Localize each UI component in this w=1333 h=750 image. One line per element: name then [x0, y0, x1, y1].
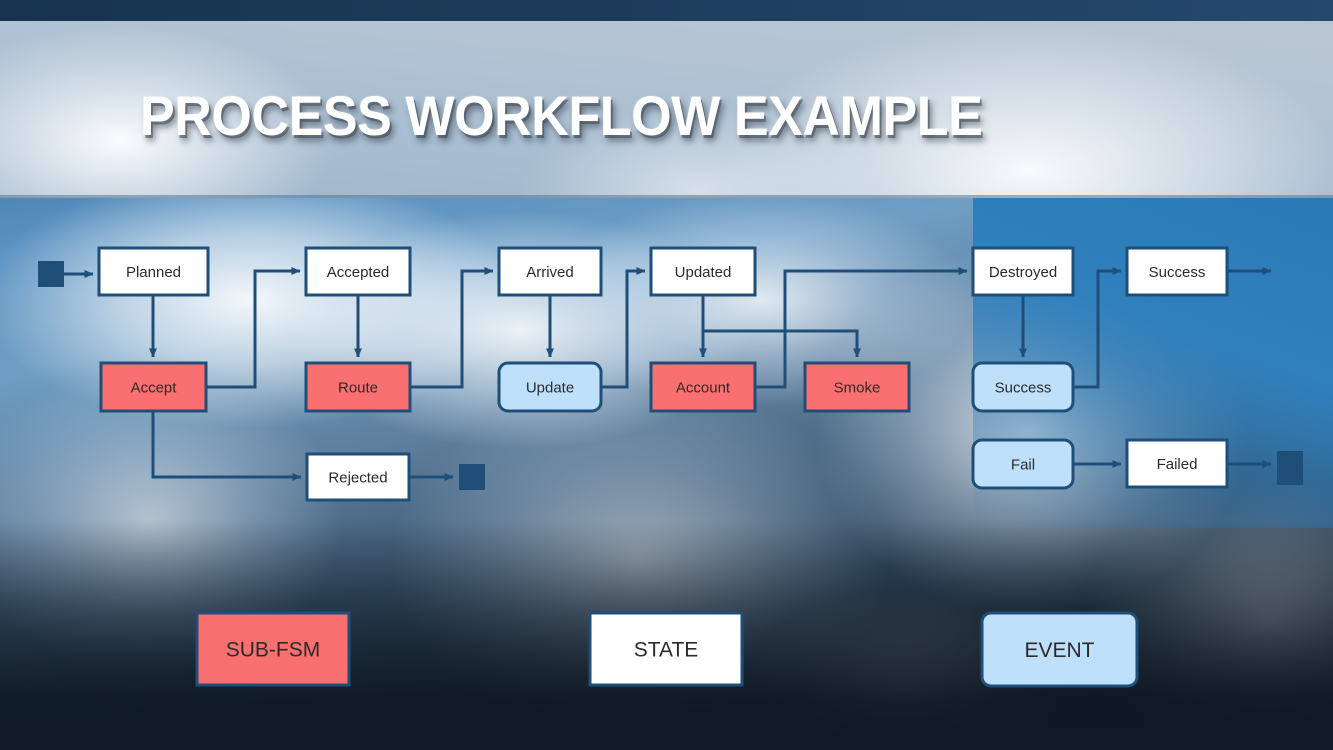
node-label: Smoke: [834, 380, 881, 397]
node-account[interactable]: Account: [651, 363, 755, 411]
node-update[interactable]: Update: [499, 363, 601, 411]
edge-success_e-to-success_s: [1073, 271, 1121, 387]
node-label: Route: [338, 380, 378, 397]
node-label: Success: [1149, 264, 1206, 281]
node-label: Updated: [675, 264, 732, 281]
node-start1[interactable]: [38, 261, 64, 287]
legend-layer: SUB-FSMSTATEEVENT: [197, 613, 1137, 686]
legend-item-state[interactable]: STATE: [590, 613, 742, 685]
node-success[interactable]: Success: [1127, 248, 1227, 295]
node-label: Failed: [1157, 456, 1198, 473]
node-label: Rejected: [328, 470, 387, 487]
node-rejected[interactable]: Rejected: [307, 454, 409, 500]
node-label: STATE: [634, 639, 699, 662]
node-accept[interactable]: Accept: [101, 363, 206, 411]
legend-item-event[interactable]: EVENT: [982, 613, 1137, 686]
top-accent-band: [0, 0, 1333, 21]
node-label: EVENT: [1024, 639, 1094, 662]
node-label: SUB-FSM: [226, 639, 321, 662]
edge-update-to-updated: [601, 271, 645, 387]
slide-canvas: PROCESS WORKFLOW EXAMPLE PlannedAcceptAc…: [0, 0, 1333, 750]
node-shape-terminal: [1277, 451, 1303, 477]
node-label: Arrived: [526, 264, 574, 281]
edge-updated-to-smoke: [703, 331, 857, 357]
page-title: PROCESS WORKFLOW EXAMPLE: [140, 83, 982, 148]
node-label: Fail: [1011, 457, 1035, 474]
node-updated[interactable]: Updated: [651, 248, 755, 295]
edge-route-to-arrived: [410, 271, 493, 387]
node-label: Accept: [131, 380, 178, 397]
node-label: Update: [526, 380, 574, 397]
node-shape-terminal: [459, 464, 485, 490]
node-label: Account: [676, 380, 731, 397]
node-arrived[interactable]: Arrived: [499, 248, 601, 295]
node-smoke[interactable]: Smoke: [805, 363, 909, 411]
node-label: Success: [995, 380, 1052, 397]
node-label: Destroyed: [989, 264, 1057, 281]
node-fail[interactable]: Fail: [973, 440, 1073, 488]
node-end1[interactable]: [459, 464, 485, 490]
node-destroyed[interactable]: Destroyed: [973, 248, 1073, 295]
node-label: Planned: [126, 264, 181, 281]
node-planned[interactable]: Planned: [99, 248, 208, 295]
edge-accept-to-rejected: [153, 411, 301, 477]
node-end3[interactable]: [1277, 451, 1303, 477]
node-route[interactable]: Route: [306, 363, 410, 411]
node-accepted[interactable]: Accepted: [306, 248, 410, 295]
node-failed[interactable]: Failed: [1127, 440, 1227, 487]
nodes-layer: PlannedAcceptAcceptedRouteRejectedArrive…: [38, 248, 1303, 500]
workflow-diagram: PlannedAcceptAcceptedRouteRejectedArrive…: [0, 198, 1333, 750]
workflow-diagram-svg: PlannedAcceptAcceptedRouteRejectedArrive…: [0, 198, 1333, 750]
edge-accept-to-accepted: [206, 271, 300, 387]
node-success[interactable]: Success: [973, 363, 1073, 411]
legend-item-sub-fsm[interactable]: SUB-FSM: [197, 613, 349, 685]
title-banner: PROCESS WORKFLOW EXAMPLE: [0, 21, 1333, 198]
node-label: Accepted: [327, 264, 390, 281]
node-shape-terminal: [38, 261, 64, 287]
